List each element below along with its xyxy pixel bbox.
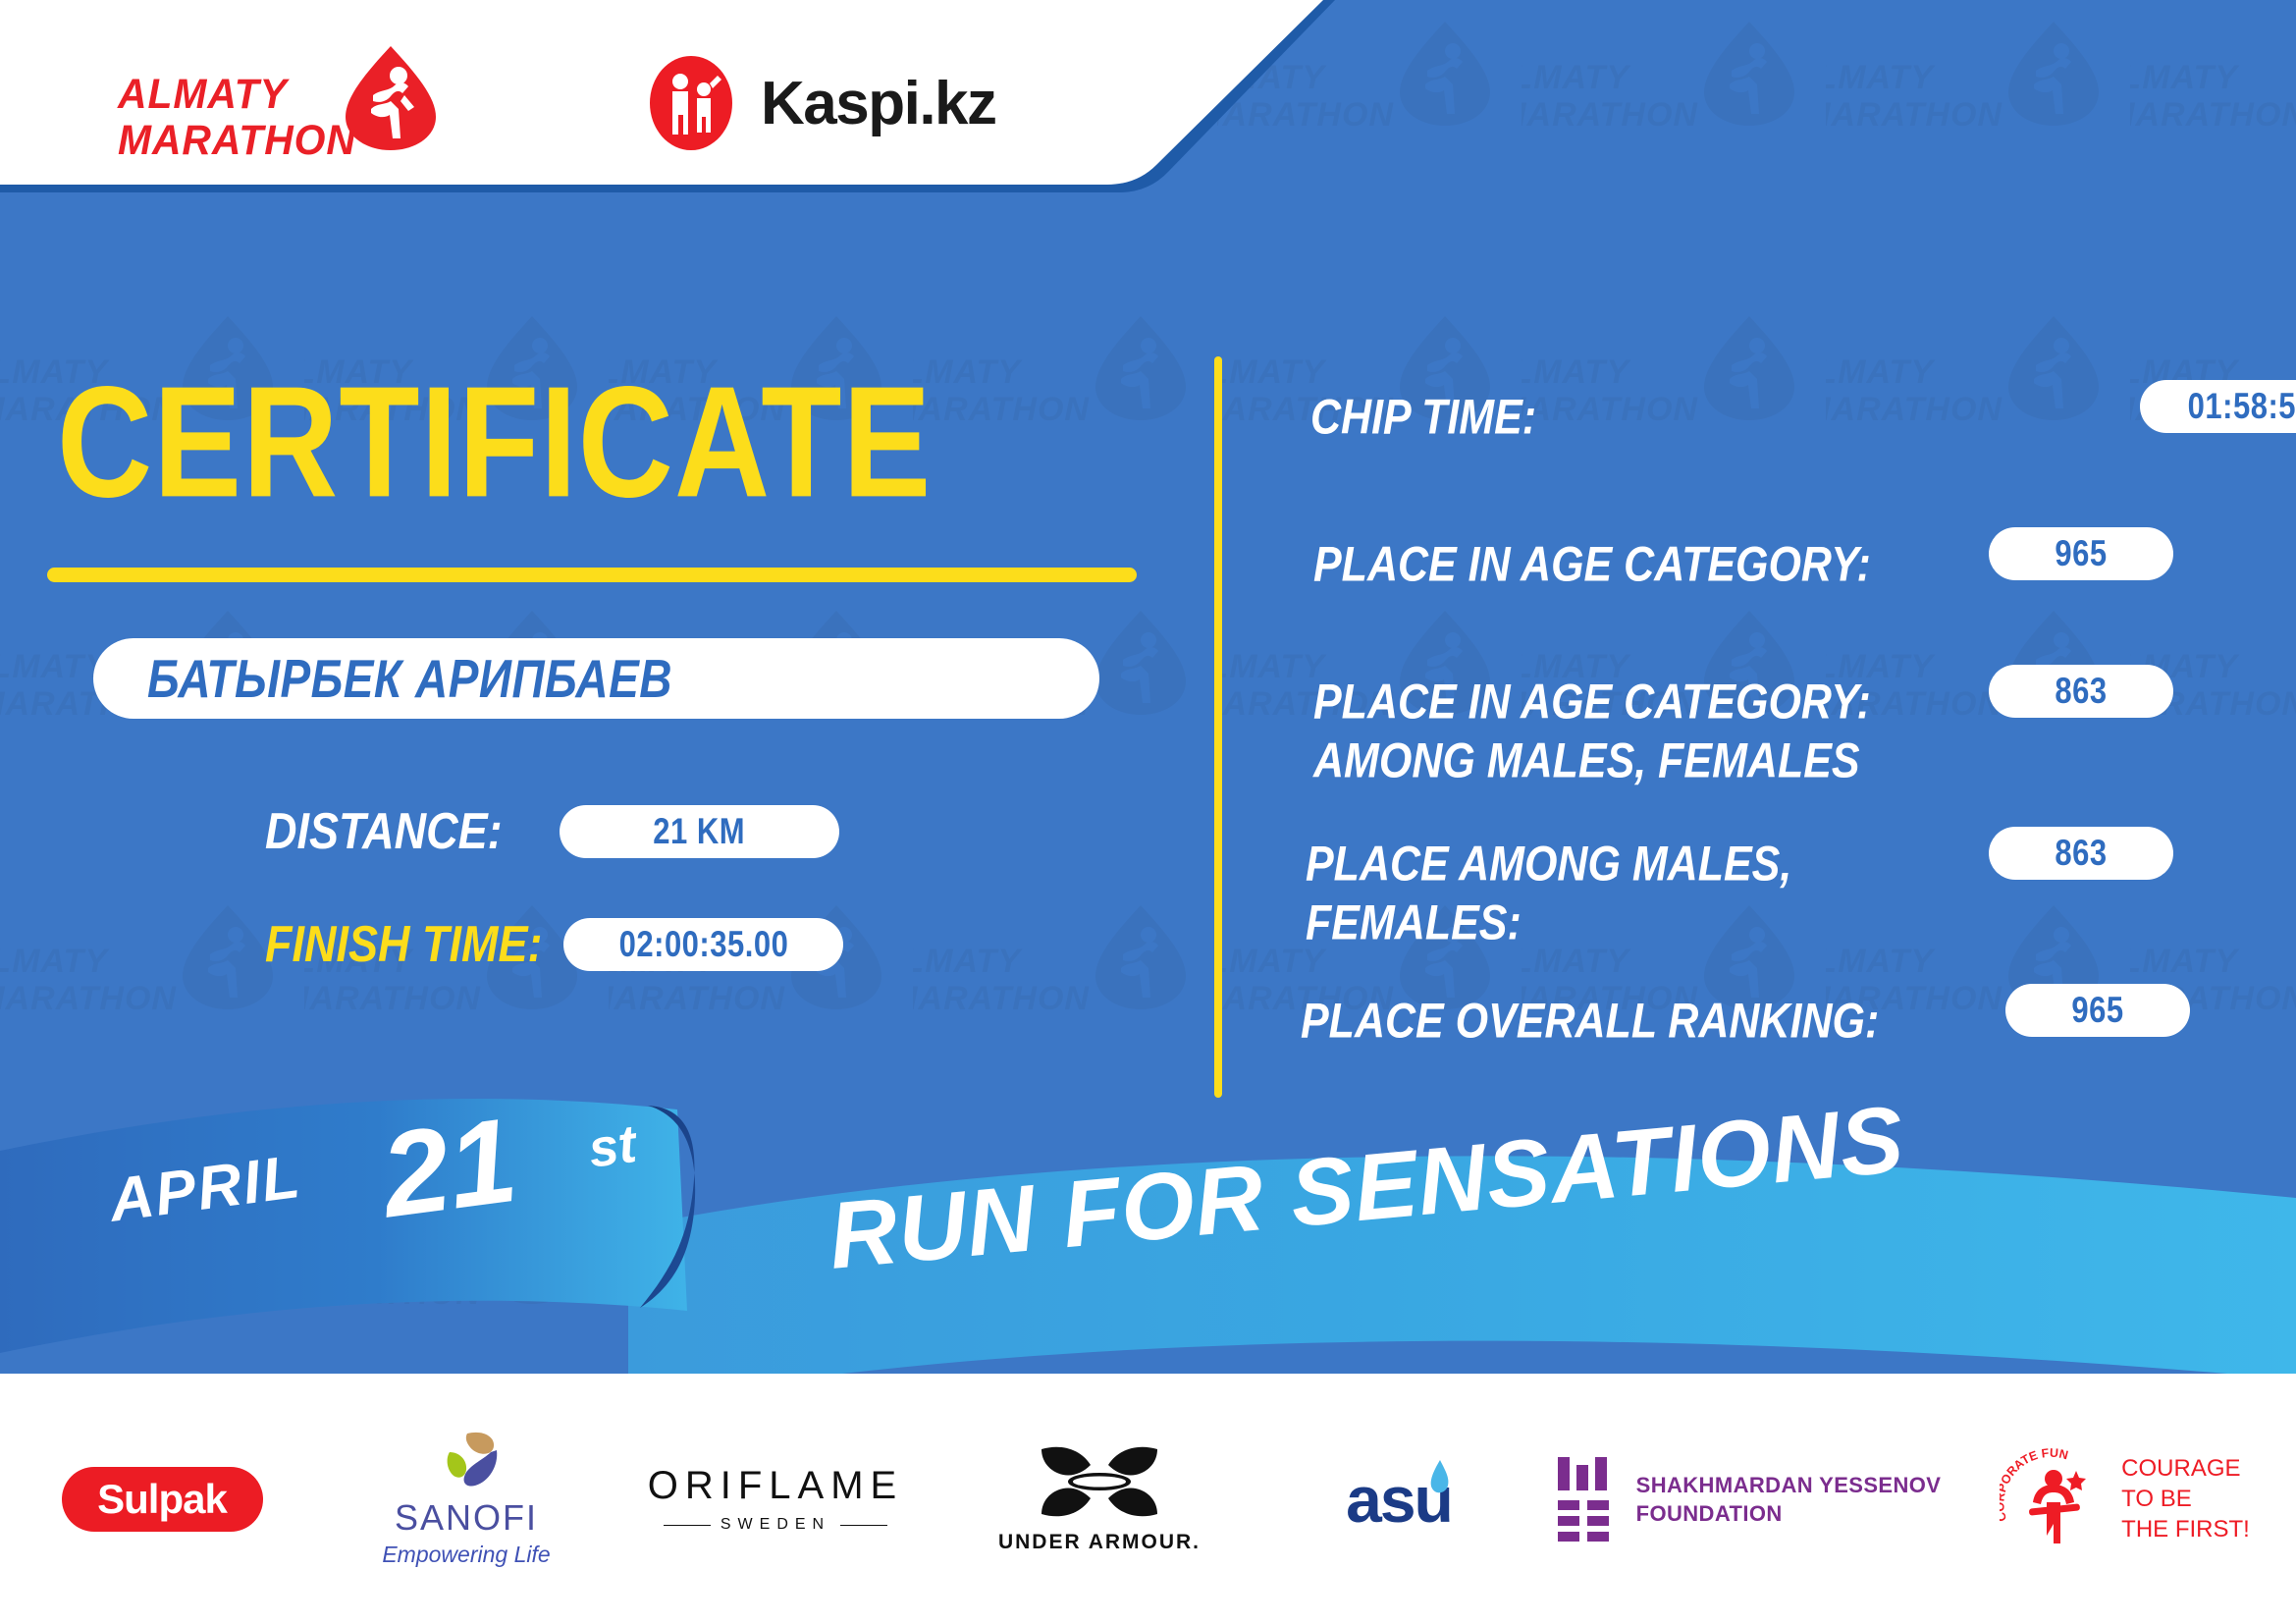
sponsor-asu: asu: [1256, 1426, 1541, 1573]
oriflame-sub: SWEDEN: [648, 1516, 903, 1534]
under-armour-wordmark: UNDER ARMOUR.: [998, 1531, 1201, 1554]
place-age-category-among-value-pill: 863: [1989, 665, 2173, 718]
finish-time-value: 02:00:35.00: [619, 923, 789, 965]
oriflame-wordmark: ORIFLAME: [648, 1464, 903, 1508]
sponsor-oriflame: ORIFLAME SWEDEN: [609, 1426, 942, 1573]
result-row-place-age-category-among: PLACE IN AGE CATEGORY: AMONG MALES, FEMA…: [1313, 673, 2177, 775]
place-among-males-females-label: PLACE AMONG MALES, FEMALES:: [1306, 835, 1791, 953]
almaty-marathon-logo: ALMATY MARATHON: [118, 44, 442, 162]
sanofi-bird-icon: [432, 1431, 501, 1491]
finish-time-value-pill: 02:00:35.00: [563, 918, 843, 971]
finish-time-label: FINISH TIME:: [265, 915, 542, 974]
result-row-place-among-males-females: PLACE AMONG MALES, FEMALES: 863: [1306, 835, 2169, 937]
oriflame-rule-left: [664, 1525, 711, 1526]
title-underline: [47, 568, 1137, 582]
courage-line1: COURAGE: [2121, 1453, 2250, 1484]
place-overall-ranking-value: 965: [2071, 989, 2123, 1031]
yessenov-bars-icon: [1554, 1455, 1615, 1543]
sanofi-wordmark: SANOFI: [382, 1497, 550, 1539]
place-among-males-females-value: 863: [2055, 832, 2107, 874]
courage-wordmark: COURAGE TO BE THE FIRST!: [2121, 1453, 2250, 1544]
under-armour-logo: UNDER ARMOUR.: [998, 1443, 1201, 1554]
courage-line3: THE FIRST!: [2121, 1514, 2250, 1544]
kaspi-logo: Kaspi.kz: [643, 54, 996, 152]
almaty-line2: MARATHON: [118, 118, 368, 164]
sponsor-sulpak: Sulpak: [0, 1426, 324, 1573]
yessenov-logo: SHAKHMARDAN YESSENOV FOUNDATION: [1554, 1455, 1942, 1543]
sponsor-courage-fund: CORPORATE FUND COURAGE TO BE THE FIRST!: [1953, 1426, 2296, 1573]
ribbon-day: 21: [374, 1091, 524, 1245]
place-age-category-label: PLACE IN AGE CATEGORY:: [1313, 535, 1871, 594]
almaty-marathon-wordmark: ALMATY MARATHON: [118, 72, 368, 164]
yessenov-line1: SHAKHMARDAN YESSENOV: [1636, 1471, 1942, 1499]
vertical-divider: [1214, 356, 1222, 1098]
oriflame-rule-right: [840, 1525, 887, 1526]
sanofi-logo: SANOFI Empowering Life: [382, 1431, 550, 1568]
certificate-title: CERTIFICATE: [57, 363, 932, 521]
chip-time-label: CHIP TIME:: [1310, 388, 1536, 447]
sulpak-logo: Sulpak: [62, 1467, 263, 1532]
finish-time-row: FINISH TIME: 02:00:35.00: [265, 918, 843, 971]
result-row-place-age-category: PLACE IN AGE CATEGORY: 965: [1313, 535, 2177, 586]
ribbon-day-suffix: st: [585, 1113, 640, 1180]
distance-value: 21 KM: [653, 810, 745, 852]
yessenov-line2: FOUNDATION: [1636, 1499, 1942, 1528]
result-row-place-overall-ranking: PLACE OVERALL RANKING: 965: [1301, 992, 2164, 1043]
kaspi-wordmark: Kaspi.kz: [761, 69, 996, 138]
asu-logo: asu: [1346, 1462, 1452, 1537]
oriflame-logo: ORIFLAME SWEDEN: [648, 1464, 903, 1534]
courage-runner-icon: CORPORATE FUND: [2000, 1445, 2108, 1553]
place-age-category-value: 965: [2055, 532, 2107, 574]
participant-name: БАТЫРБЕК АРИПБАЕВ: [147, 647, 672, 710]
asu-droplet-icon: [1426, 1458, 1452, 1497]
place-among-males-females-value-pill: 863: [1989, 827, 2173, 880]
sulpak-wordmark: Sulpak: [97, 1476, 227, 1523]
chip-time-value-pill: 01:58:55.00: [2140, 380, 2296, 433]
under-armour-icon: [1036, 1443, 1163, 1520]
result-row-chip-time: CHIP TIME: 01:58:55.00: [1310, 388, 2174, 439]
certificate-canvas: ALMATY MARATHON Kaspi.kz CERTIFICATE БАТ…: [0, 0, 2296, 1624]
distance-label: DISTANCE:: [265, 802, 503, 861]
sponsor-logos: Sulpak SANOFI Empowering Life ORIFLAME S…: [0, 1374, 2296, 1624]
oriflame-sub-text: SWEDEN: [721, 1516, 830, 1534]
distance-row: DISTANCE: 21 KM: [265, 805, 839, 858]
sponsor-under-armour: UNDER ARMOUR.: [942, 1426, 1256, 1573]
place-overall-ranking-label: PLACE OVERALL RANKING:: [1301, 992, 1879, 1051]
yessenov-wordmark: SHAKHMARDAN YESSENOV FOUNDATION: [1636, 1471, 1942, 1528]
sanofi-tagline: Empowering Life: [382, 1542, 550, 1568]
kaspi-people-icon: [643, 54, 739, 152]
chip-time-value: 01:58:55.00: [2188, 385, 2296, 427]
place-age-category-value-pill: 965: [1989, 527, 2173, 580]
distance-value-pill: 21 KM: [560, 805, 839, 858]
place-overall-ranking-value-pill: 965: [2005, 984, 2190, 1037]
place-age-category-among-value: 863: [2055, 670, 2107, 712]
sponsor-yessenov-foundation: SHAKHMARDAN YESSENOV FOUNDATION: [1541, 1426, 1953, 1573]
courage-line2: TO BE: [2121, 1484, 2250, 1514]
place-age-category-among-label: PLACE IN AGE CATEGORY: AMONG MALES, FEMA…: [1313, 673, 1871, 791]
almaty-line1: ALMATY: [118, 72, 368, 118]
courage-logo: CORPORATE FUND COURAGE TO BE THE FIRST!: [2000, 1445, 2250, 1553]
sponsor-sanofi: SANOFI Empowering Life: [324, 1426, 609, 1573]
participant-name-field: БАТЫРБЕК АРИПБАЕВ: [93, 638, 1099, 719]
